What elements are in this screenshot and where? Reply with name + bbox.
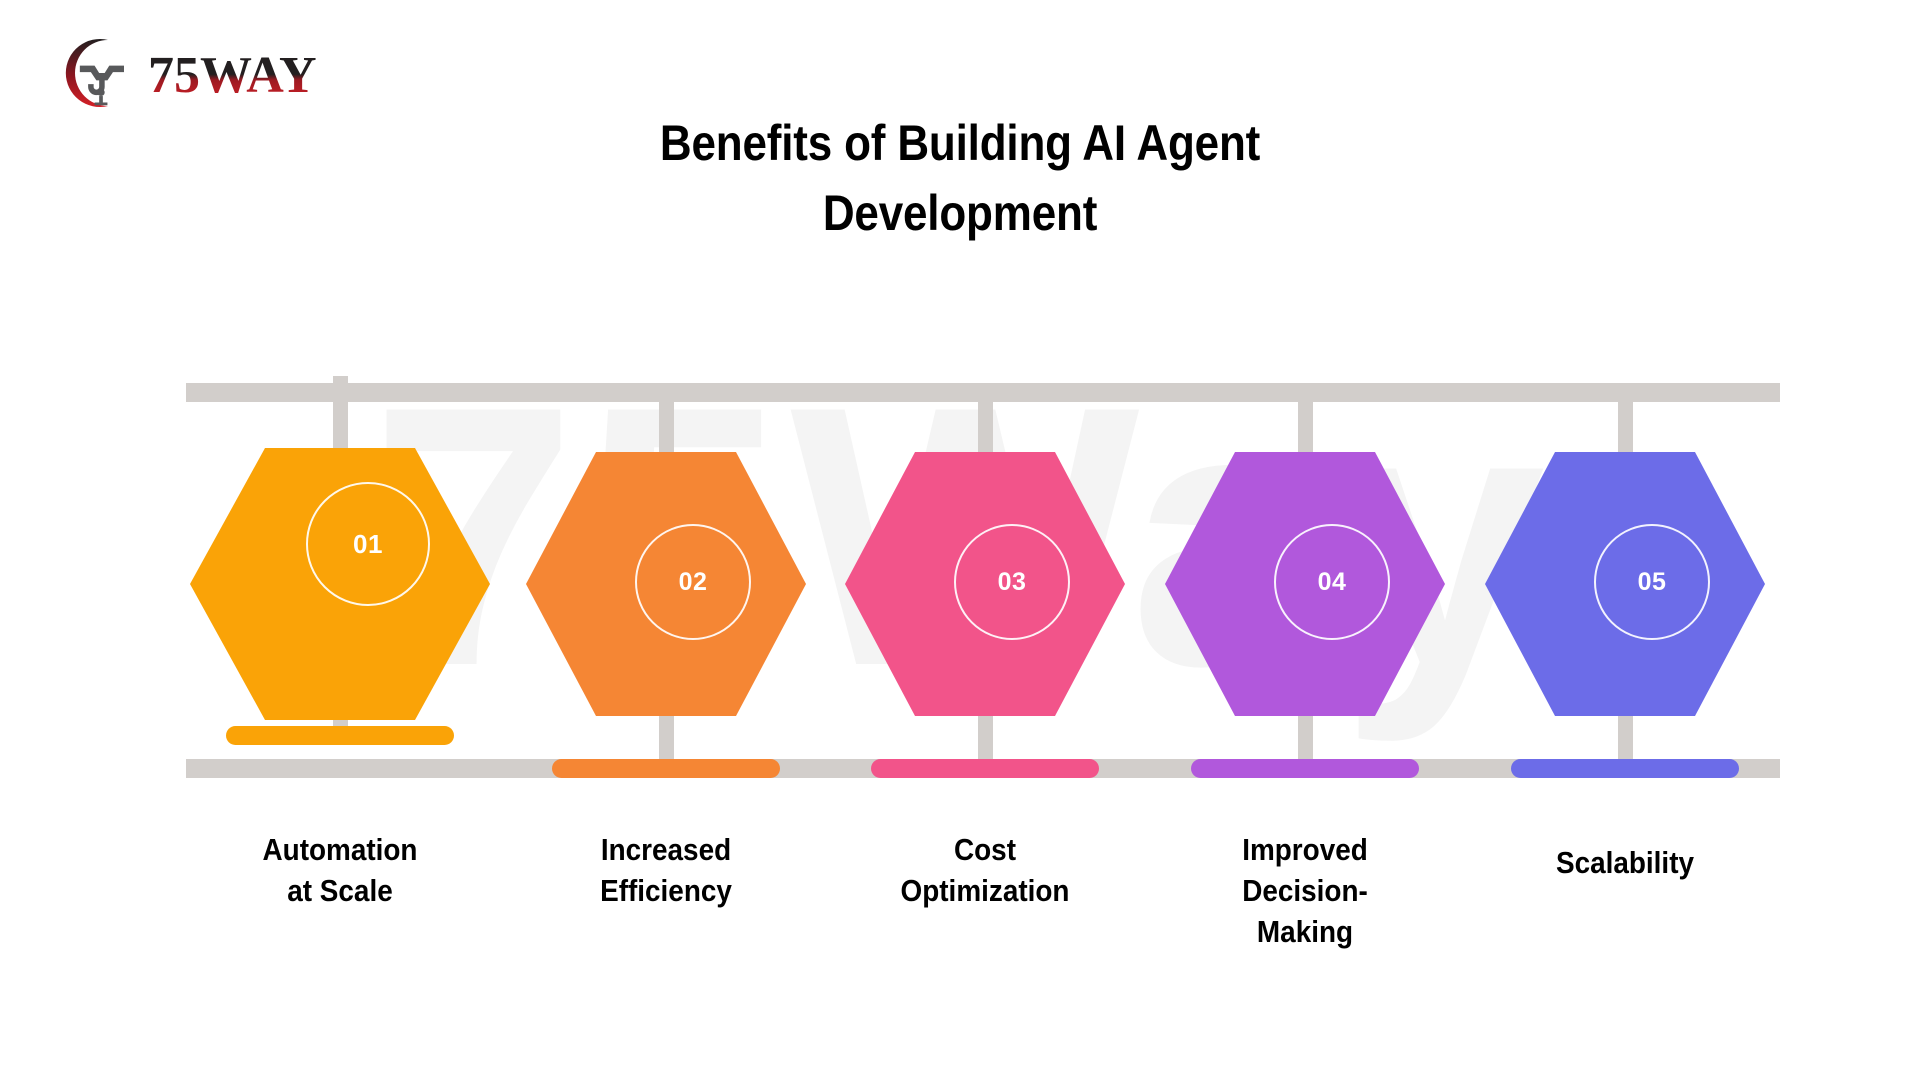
step-label-line: Optimization: [873, 871, 1098, 912]
step-marker-bar-03: [871, 759, 1099, 778]
step-label-line: Decision-: [1193, 871, 1418, 912]
step-label-text-02: IncreasedEfficiency: [554, 830, 779, 912]
step-label-line: Efficiency: [554, 871, 779, 912]
step-number-badge-05: 05: [1594, 524, 1710, 640]
step-label-04: ImprovedDecision-Making: [1180, 830, 1430, 953]
step-label-text-01: Automationat Scale: [228, 830, 453, 912]
step-label-text-05: Scalability: [1513, 843, 1738, 884]
page-title-line1: Benefits of Building AI Agent: [115, 108, 1805, 178]
step-label-line: at Scale: [228, 871, 453, 912]
page-title: Benefits of Building AI Agent Developmen…: [115, 108, 1805, 248]
step-label-02: IncreasedEfficiency: [541, 830, 791, 912]
step-label-line: Automation: [228, 830, 453, 871]
step-label-text-04: ImprovedDecision-Making: [1193, 830, 1418, 953]
logo-mark-icon: 75WAY: [40, 30, 330, 116]
step-marker-bar-04: [1191, 759, 1419, 778]
75way-logo[interactable]: 75WAY: [40, 28, 340, 118]
step-number-05: 05: [1638, 568, 1667, 597]
step-label-line: Scalability: [1513, 843, 1738, 884]
step-label-05: Scalability: [1500, 843, 1750, 884]
step-marker-bar-02: [552, 759, 780, 778]
step-label-01: Automationat Scale: [215, 830, 465, 912]
step-number-badge-01: 01: [306, 482, 430, 606]
step-number-04: 04: [1318, 568, 1347, 597]
logo-wordmark: 75WAY: [148, 47, 317, 104]
step-number-01: 01: [353, 529, 383, 560]
step-number-badge-03: 03: [954, 524, 1070, 640]
step-label-text-03: CostOptimization: [873, 830, 1098, 912]
step-label-line: Cost: [873, 830, 1098, 871]
step-marker-bar-01: [226, 726, 454, 745]
step-number-02: 02: [679, 568, 708, 597]
step-label-line: Making: [1193, 912, 1418, 953]
step-label-line: Increased: [554, 830, 779, 871]
step-number-03: 03: [998, 568, 1027, 597]
step-label-03: CostOptimization: [860, 830, 1110, 912]
step-marker-bar-05: [1511, 759, 1739, 778]
step-label-line: Improved: [1193, 830, 1418, 871]
step-number-badge-02: 02: [635, 524, 751, 640]
step-number-badge-04: 04: [1274, 524, 1390, 640]
page-title-line2: Development: [115, 178, 1805, 248]
